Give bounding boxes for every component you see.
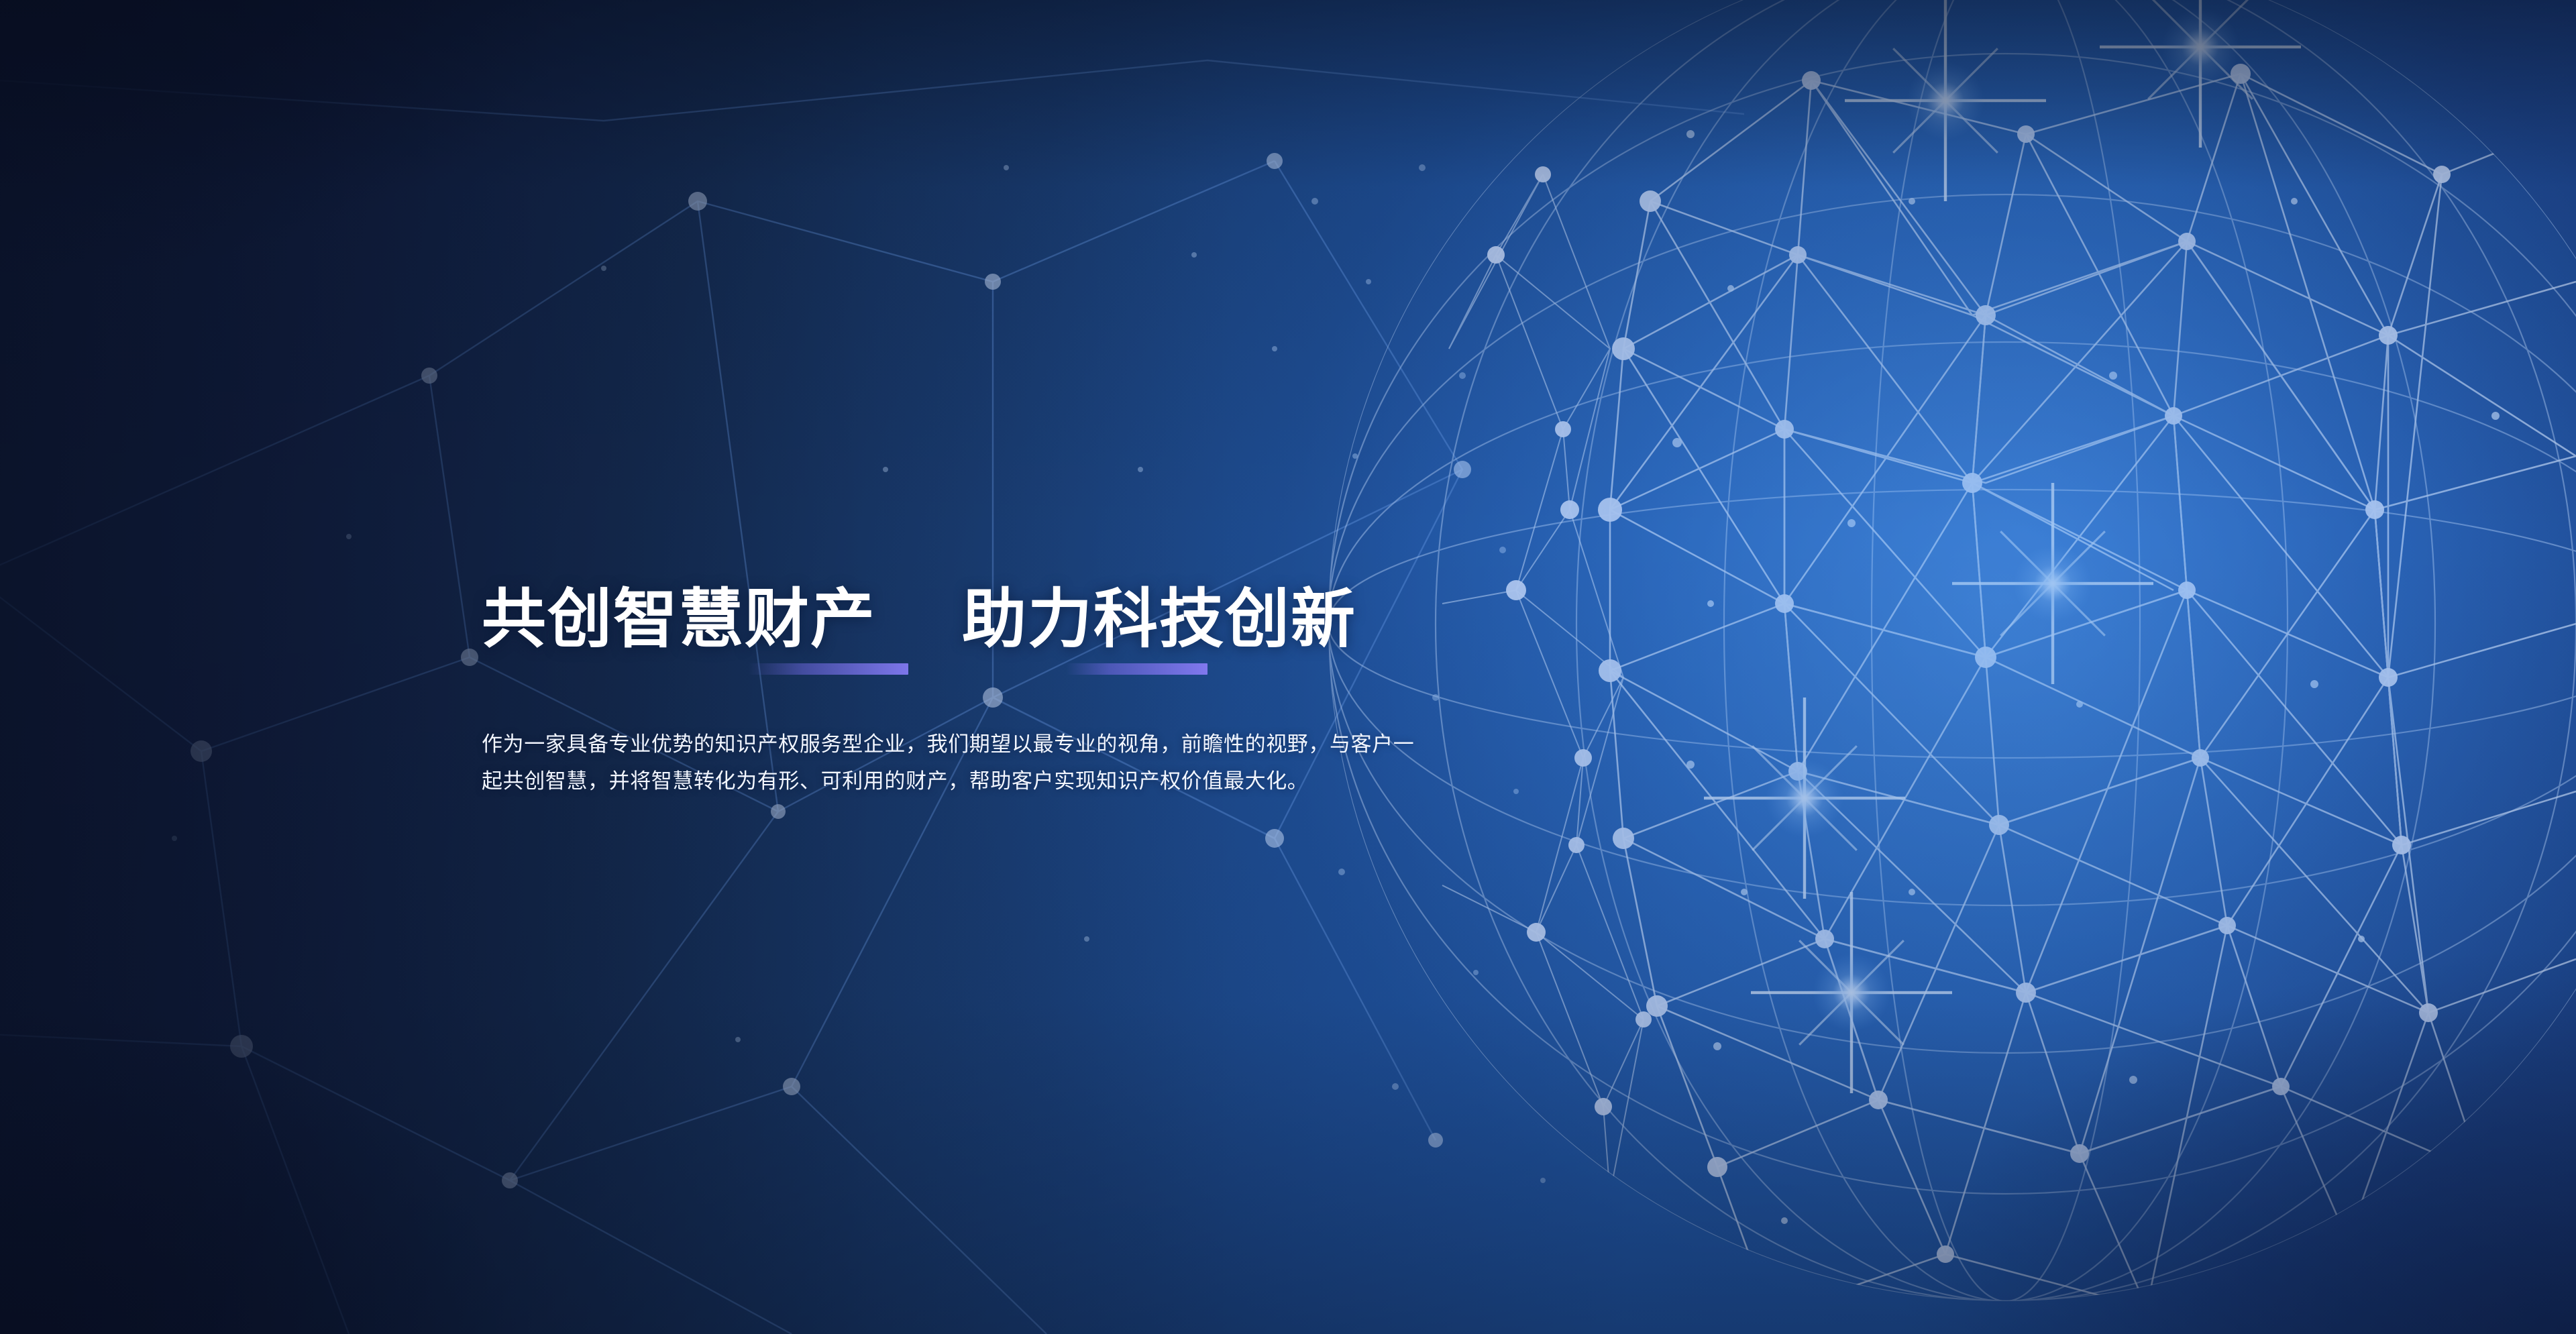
headline-segment-2-wrapper: 助力科技创新 [962, 583, 1356, 656]
headline-segment-2: 助力科技创新 [962, 583, 1356, 655]
hero-description: 作为一家具备专业优势的知识产权服务型企业，我们期望以最专业的视角，前瞻性的视野，… [482, 726, 1429, 799]
headline-segment-1: 共创智慧财产 [482, 583, 876, 655]
headline-segment-1-wrapper: 共创智慧财产 [482, 583, 876, 656]
hero-banner: 共创智慧财产 助力科技创新 作为一家具备专业优势的知识产权服务型企业，我们期望以… [0, 0, 2576, 1334]
purple-underline-left-icon [749, 663, 908, 675]
page-title: 共创智慧财产 助力科技创新 [482, 583, 1434, 656]
purple-underline-right-icon [1067, 663, 1207, 675]
hero-copy-block: 共创智慧财产 助力科技创新 作为一家具备专业优势的知识产权服务型企业，我们期望以… [482, 541, 1434, 820]
